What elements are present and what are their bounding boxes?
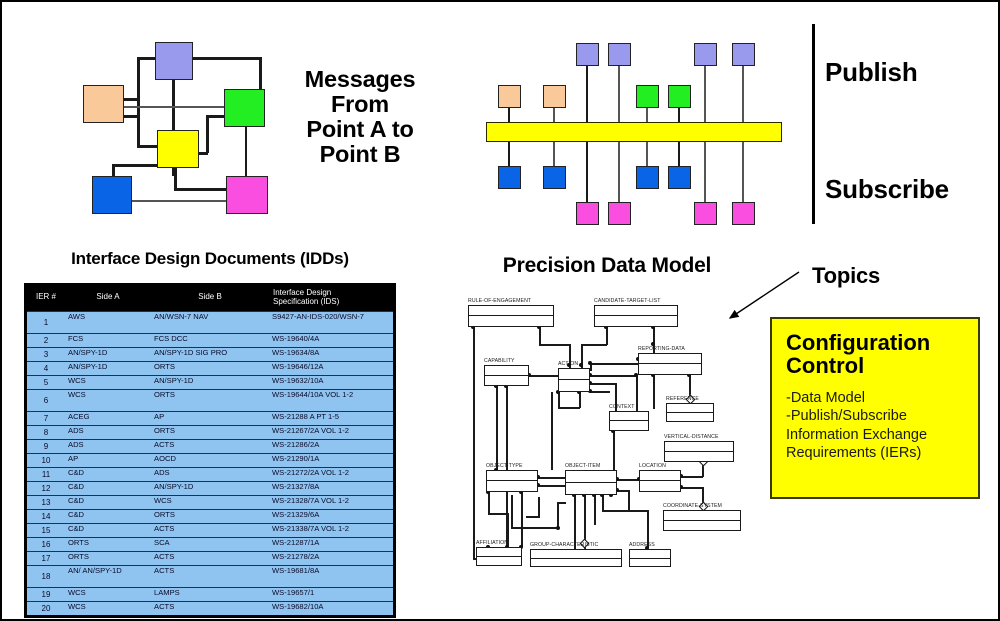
erd-entity-box[interactable] [609, 411, 649, 431]
erd-entity-box[interactable] [638, 353, 702, 375]
erd-entity-label: REFERENCE [666, 396, 699, 402]
config-bullet: -Data Model [786, 389, 968, 407]
config-title-line-2: Control [786, 354, 968, 377]
configuration-control-title: Configuration Control [786, 331, 968, 377]
erd-connector [511, 527, 558, 529]
erd-entity-divider [664, 520, 740, 521]
erd-entity-label: COORDINATE-SYSTEM [663, 503, 722, 509]
erd-connector [628, 490, 630, 510]
erd-entity-divider [477, 556, 521, 557]
erd-connector [539, 344, 570, 346]
erd-entity-box[interactable] [639, 470, 681, 492]
erd-entity-divider [665, 451, 733, 452]
erd-connector [488, 513, 508, 515]
erd-connector [590, 383, 616, 385]
erd-connector [602, 495, 604, 511]
config-bullet: Requirements (IERs) [786, 444, 968, 462]
topics-label: Topics [812, 264, 880, 287]
erd-entity-box[interactable] [558, 368, 590, 392]
erd-connector [558, 392, 560, 408]
erd-connector [521, 492, 523, 547]
erd-connector [681, 487, 703, 489]
erd-entity-box[interactable] [664, 441, 734, 462]
erd-entity-box[interactable] [666, 403, 714, 422]
config-bullet: -Publish/Subscribe [786, 407, 968, 425]
erd-entity-divider [667, 412, 713, 413]
config-title-line-1: Configuration [786, 331, 968, 354]
erd-entity-label: CANDIDATE-TARGET-LIST [594, 298, 660, 304]
erd-connector [681, 476, 703, 478]
erd-entity-box[interactable] [594, 305, 678, 327]
cell-ier: 19 [27, 587, 65, 601]
table-row[interactable]: 20WCSACTSWS-19682/10A [27, 601, 393, 615]
erd-entity-box[interactable] [530, 549, 622, 567]
erd-entity-box[interactable] [484, 365, 529, 386]
erd-connector [581, 344, 607, 346]
cell-side-b: LAMPS [151, 587, 269, 601]
erd-connector [539, 327, 541, 345]
erd-connector [574, 495, 576, 549]
erd-connector [590, 363, 638, 365]
erd-connector [606, 327, 608, 345]
erd-connector [529, 375, 559, 377]
erd-entity-label: ADDRESS [629, 542, 655, 548]
erd-connector [653, 375, 655, 409]
erd-connector [511, 495, 513, 528]
erd-connector [488, 492, 490, 514]
erd-entity-divider [610, 420, 648, 421]
erd-entity-divider [531, 558, 621, 559]
cell-side-b: ACTS [151, 601, 269, 615]
configuration-control-bullets: -Data Model -Publish/Subscribe Informati… [786, 389, 968, 462]
erd-entity-divider [559, 379, 589, 380]
table-row[interactable]: 19WCSLAMPSWS-19657/1 [27, 587, 393, 601]
publish-label: Publish [825, 59, 918, 87]
erd-entity-box[interactable] [468, 305, 554, 327]
erd-connector [602, 510, 648, 512]
erd-connector [613, 431, 615, 471]
erd-connector [551, 392, 553, 470]
erd-entity-label: GROUP-CHARACTERISTIC [530, 542, 598, 548]
erd-connector [538, 485, 565, 487]
erd-connector [557, 502, 559, 528]
erd-entity-box[interactable] [629, 549, 671, 567]
erd-entity-label: ACTION [558, 361, 578, 367]
precision-data-model-diagram: RULE-OF-ENGAGEMENTCANDIDATE-TARGET-LISTC… [2, 2, 762, 582]
cell-side-a: WCS [65, 601, 151, 615]
erd-entity-label: REPORTING-DATA [638, 346, 685, 352]
erd-connector [579, 392, 581, 408]
erd-connector [496, 386, 498, 470]
cell-ids: WS-19657/1 [269, 587, 393, 601]
erd-endpoint-dot [588, 361, 592, 365]
slide-root: Messages From Point A to Point B [0, 0, 1000, 621]
erd-connector [538, 497, 540, 517]
configuration-control-box[interactable]: Configuration Control -Data Model -Publi… [770, 317, 980, 499]
erd-connector [526, 516, 540, 518]
erd-connector [617, 479, 639, 481]
erd-entity-divider [640, 480, 680, 481]
erd-entity-label: CAPABILITY [484, 358, 515, 364]
cell-ier: 20 [27, 601, 65, 615]
erd-connector [590, 375, 638, 377]
erd-entity-label: OBJECT-ITEM [565, 463, 600, 469]
erd-entity-box[interactable] [663, 510, 741, 531]
erd-entity-divider [630, 558, 670, 559]
publish-subscribe-divider [812, 24, 815, 224]
cell-side-a: WCS [65, 587, 151, 601]
erd-entity-label: CONTEXT [609, 404, 635, 410]
erd-endpoint-dot [579, 363, 583, 367]
subscribe-label: Subscribe [825, 176, 949, 204]
erd-entity-label: OBJECT-TYPE [486, 463, 523, 469]
erd-entity-divider [566, 482, 616, 483]
erd-entity-divider [485, 375, 528, 376]
erd-connector [594, 495, 596, 525]
erd-connector [558, 407, 580, 409]
erd-entity-label: RULE-OF-ENGAGEMENT [468, 298, 531, 304]
erd-endpoint-dot [556, 526, 560, 530]
erd-entity-divider [595, 315, 677, 316]
erd-connector [538, 477, 565, 479]
erd-entity-label: VERTICAL-DISTANCE [664, 434, 719, 440]
erd-entity-divider [487, 480, 537, 481]
erd-entity-box[interactable] [486, 470, 538, 492]
erd-entity-box[interactable] [476, 547, 522, 566]
erd-entity-label: LOCATION [639, 463, 666, 469]
erd-connector [636, 375, 638, 411]
config-bullet: Information Exchange [786, 426, 968, 444]
erd-entity-divider [469, 315, 553, 316]
erd-connector [473, 327, 475, 559]
erd-entity-divider [639, 363, 701, 364]
erd-entity-box[interactable] [565, 470, 617, 495]
erd-connector [590, 391, 610, 393]
cell-ids: WS-19682/10A [269, 601, 393, 615]
erd-entity-label: AFFILIATION [476, 540, 508, 546]
